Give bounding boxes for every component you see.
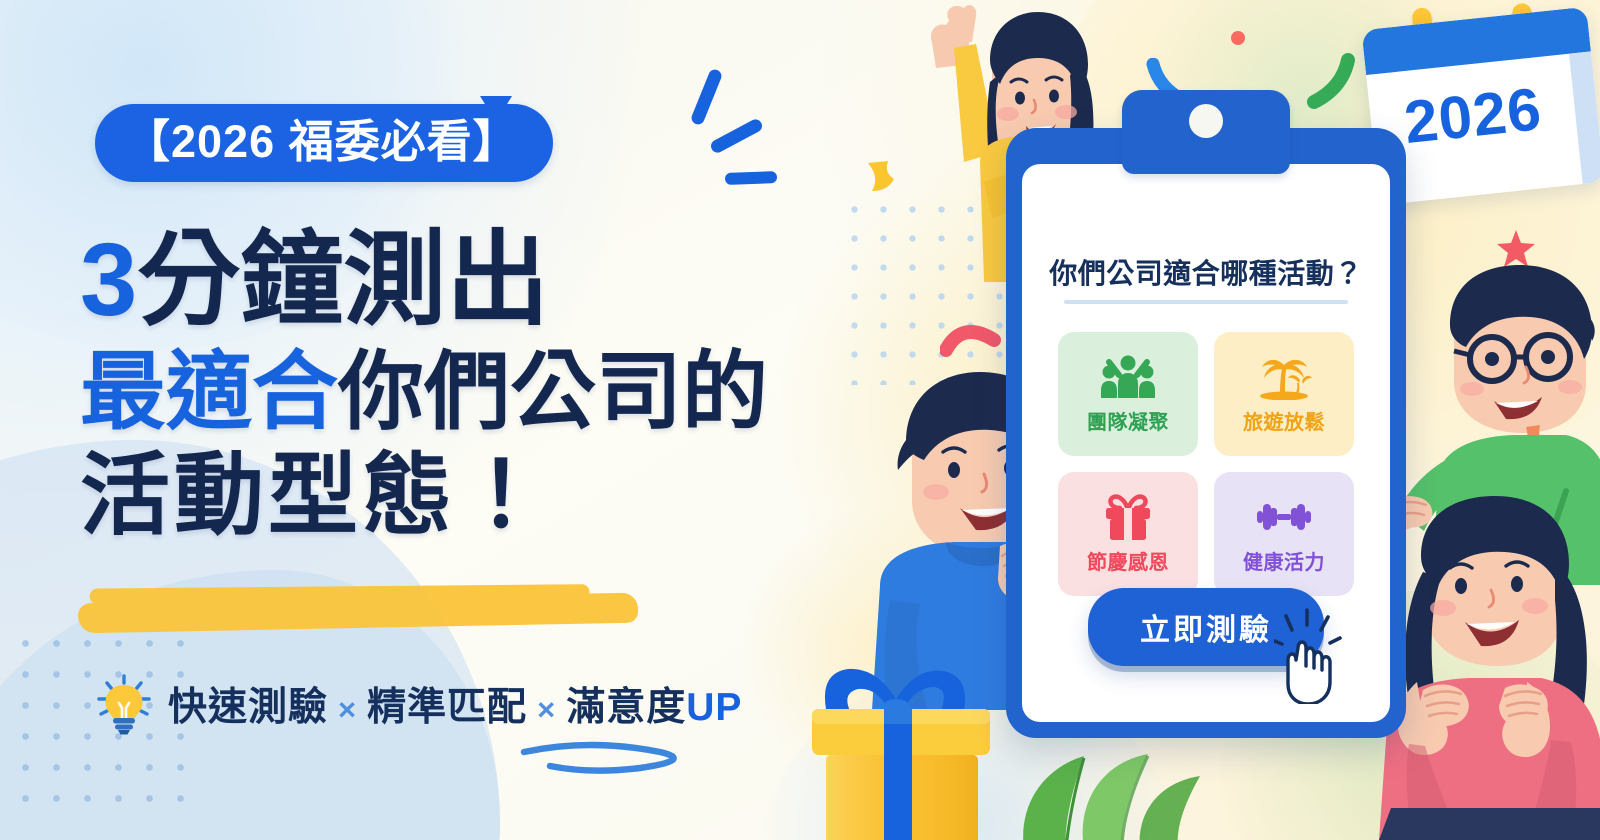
brush-tick-1-icon <box>690 68 724 127</box>
clipboard-card: 你們公司適合哪種活動？ <box>1006 128 1406 738</box>
option-team-bonding[interactable]: 團隊凝聚 <box>1058 332 1198 456</box>
tagline-item-3-accent: UP <box>686 686 742 729</box>
gift-icon <box>1100 494 1156 540</box>
clipboard-clip <box>1122 90 1290 174</box>
lightbulb-icon <box>92 672 156 736</box>
tagline-item-2: 精準匹配 <box>367 686 527 729</box>
headline-line-1: 3分鐘測出 <box>80 228 880 331</box>
card-divider <box>1064 300 1348 304</box>
tagline-separator-2: × <box>527 692 566 727</box>
promo-banner: 【2026 福委必看】 3分鐘測出 最適合你們公司的 活動型態！ <box>0 0 1600 840</box>
calendar-header-bar <box>1361 7 1590 75</box>
headline-line-2-accent: 最適合 <box>80 344 338 440</box>
yellow-highlight-stroke <box>78 593 638 634</box>
blue-swoosh-underline <box>520 740 710 774</box>
card-question-title: 你們公司適合哪種活動？ <box>1022 252 1390 292</box>
headline-number: 3 <box>80 222 137 337</box>
brush-tick-3-icon <box>725 171 777 185</box>
tagline-item-1: 快速測驗 <box>168 686 328 729</box>
option-holiday-gratitude[interactable]: 節慶感恩 <box>1058 472 1198 596</box>
headline-line-2-rest: 你們公司的 <box>338 344 768 440</box>
headline-line-3: 活動型態！ <box>80 451 880 541</box>
option-grid: 團隊凝聚 <box>1058 332 1354 596</box>
man-glasses-illustration <box>1380 255 1600 585</box>
dumbbell-icon <box>1256 494 1312 540</box>
tagline-text: 快速測驗×精準匹配×滿意度UP <box>168 676 742 732</box>
clipboard-clip-hole <box>1189 104 1223 138</box>
tagline-item-3: 滿意度 <box>566 686 686 729</box>
gift-box-illustration <box>790 633 1015 840</box>
tagline-separator-1: × <box>328 692 367 727</box>
option-label: 旅遊放鬆 <box>1243 406 1325 435</box>
option-label: 節慶感恩 <box>1087 546 1169 575</box>
people-celebrate-icon <box>1100 354 1156 400</box>
option-label: 團隊凝聚 <box>1087 406 1169 435</box>
headline-line-1-rest: 分鐘測出 <box>137 222 549 337</box>
option-health-vitality[interactable]: 健康活力 <box>1214 472 1354 596</box>
left-content-column: 【2026 福委必看】 3分鐘測出 最適合你們公司的 活動型態！ <box>0 0 880 840</box>
palm-tree-icon <box>1256 354 1312 400</box>
headline-line-2: 最適合你們公司的 <box>80 349 880 435</box>
headline-block: 3分鐘測出 最適合你們公司的 活動型態！ <box>80 228 880 541</box>
brush-tick-2-icon <box>709 117 765 155</box>
badge-tail-pointer <box>480 96 512 122</box>
tagline-row: 快速測驗×精準匹配×滿意度UP <box>92 672 742 736</box>
option-label: 健康活力 <box>1243 546 1325 575</box>
right-illustration-column: 2026 <box>820 0 1600 840</box>
clipboard-paper: 你們公司適合哪種活動？ <box>1022 164 1390 722</box>
cta-start-quiz-button[interactable]: 立即測驗 <box>1088 588 1324 666</box>
option-travel-relax[interactable]: 旅遊放鬆 <box>1214 332 1354 456</box>
